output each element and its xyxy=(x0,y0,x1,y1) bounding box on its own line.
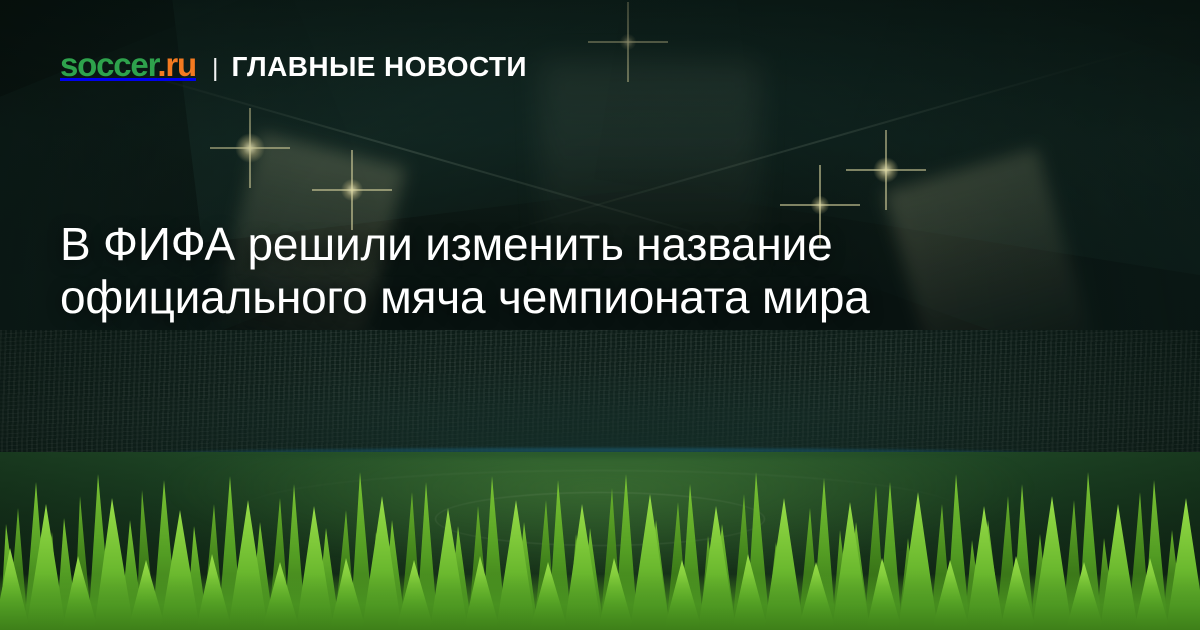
logo-main-text: soccer xyxy=(60,46,157,83)
news-share-card: soccer.ru | ГЛАВНЫЕ НОВОСТИ В ФИФА решил… xyxy=(0,0,1200,630)
soccer-ru-logo[interactable]: soccer.ru xyxy=(60,48,196,81)
header-separator: | xyxy=(212,56,219,81)
page-title: В ФИФА решили изменить название официаль… xyxy=(60,218,1130,324)
logo-tld-text: .ru xyxy=(157,46,196,83)
grass-base xyxy=(0,574,1200,630)
foreground-grass xyxy=(0,470,1200,630)
card-header: soccer.ru | ГЛАВНЫЕ НОВОСТИ xyxy=(60,48,527,81)
header-kicker-label: ГЛАВНЫЕ НОВОСТИ xyxy=(231,53,526,81)
grass-blades-svg xyxy=(0,470,1200,630)
